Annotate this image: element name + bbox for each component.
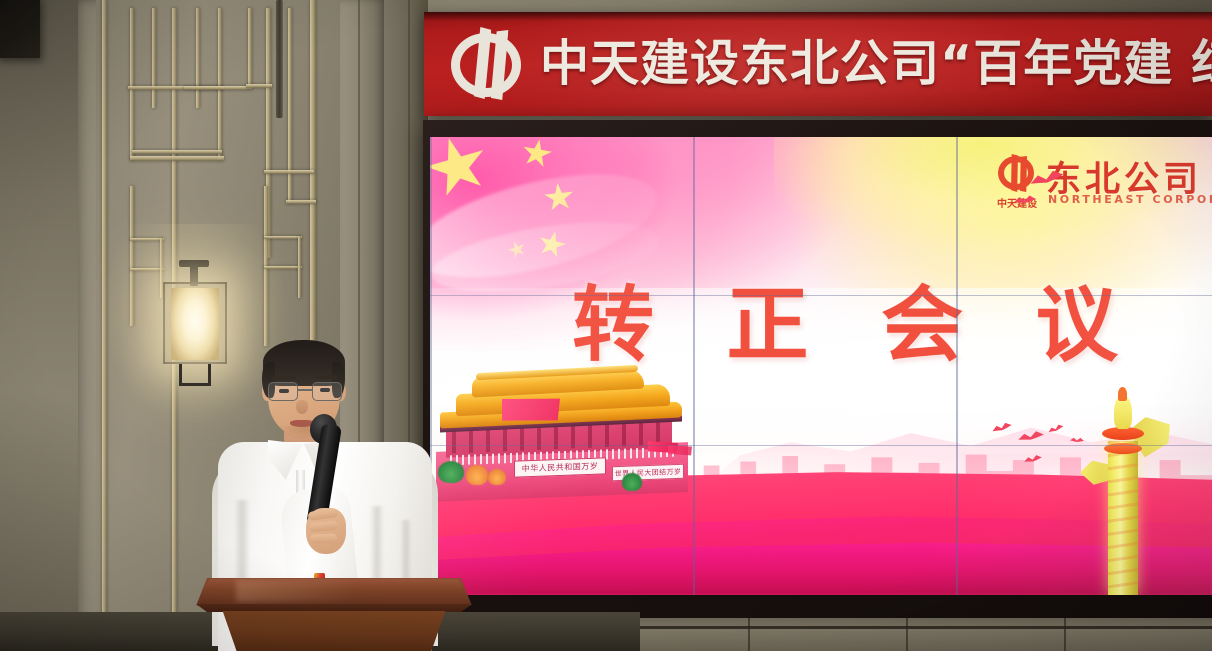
eyeglasses (264, 382, 346, 402)
gate-sign-main: 中华人民共和国万岁 (514, 457, 606, 477)
photo-scene: 中天建设东北公司“百年党建 红色记忆”党日活动 中天建设 东北公司 NORTHE… (0, 0, 1212, 651)
wall-vertical-trim (276, 0, 283, 118)
huabiao-column-graphic (1078, 393, 1164, 595)
ceiling-speaker-panel (0, 0, 40, 58)
northeast-corporation-logo: 中天建设 东北公司 NORTHEAST CORPORATION (990, 153, 1206, 215)
company-name-en: NORTHEAST CORPORATION (1048, 193, 1212, 206)
red-event-banner: 中天建设东北公司“百年党建 红色记忆”党日活动 (424, 12, 1212, 116)
video-wall-seam-vertical (956, 137, 958, 595)
tiananmen-gate-graphic: 中华人民共和国万岁 世界人民大团结万岁 (436, 369, 698, 497)
nose (296, 400, 308, 414)
video-wall-seam-horizontal (430, 295, 1212, 296)
stage-cabinet (640, 618, 1212, 651)
video-wall-seam-horizontal (430, 445, 1212, 446)
zhongtian-construction-logo (448, 28, 526, 102)
banner-top-shadow (424, 12, 1212, 21)
zhongtian-mark-subtext: 中天建设 (993, 195, 1041, 210)
led-video-wall[interactable]: 中天建设 东北公司 NORTHEAST CORPORATION 中华人民共和国万… (430, 137, 1212, 595)
wooden-podium (196, 578, 472, 651)
banner-title-text: 中天建设东北公司“百年党建 红色记忆”党日活动 (540, 30, 1212, 98)
wall-left-section (0, 0, 78, 651)
screen-main-title: 转 正 会 议 (572, 285, 1112, 367)
lamp-bottom-bracket (179, 364, 211, 386)
video-wall-seam-vertical (693, 137, 695, 595)
